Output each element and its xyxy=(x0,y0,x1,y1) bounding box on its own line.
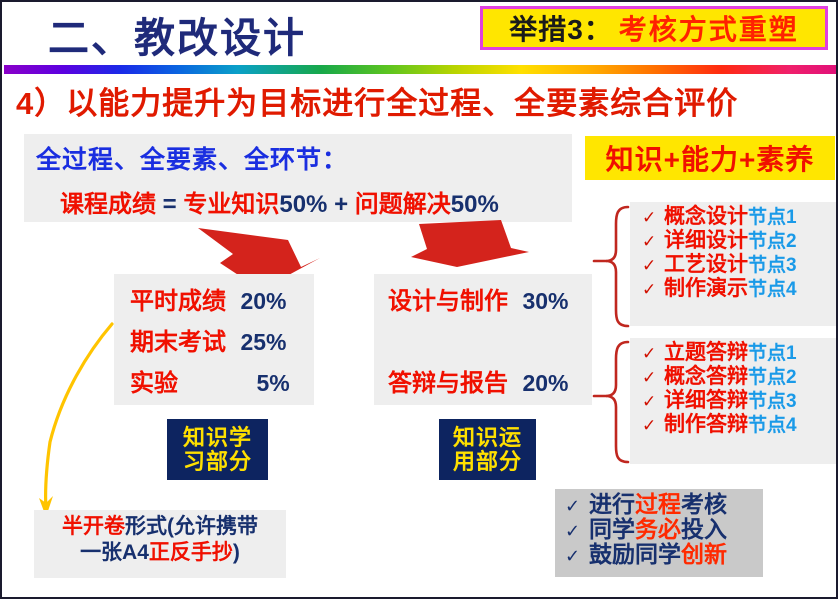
subtitle-heading: 4）以能力提升为目标进行全过程、全要素综合评价 xyxy=(16,78,738,123)
node-tag: 节点1 xyxy=(748,344,797,363)
score-value: 5% xyxy=(256,370,289,396)
node-tag: 节点3 xyxy=(748,392,797,411)
score-value: 30% xyxy=(522,288,568,314)
table-row: 实验 5% xyxy=(130,363,290,398)
table-row: 期末考试 25% xyxy=(130,322,287,357)
list-item: ✓ 工艺设计 节点3 xyxy=(642,254,828,275)
badge-line-1: 知识学 xyxy=(183,426,252,450)
goal-text-post: 考核 xyxy=(681,492,727,516)
node-tag: 节点2 xyxy=(748,368,797,387)
exam-note-text: 一张A4 xyxy=(80,541,149,564)
score-name: 设计与制作 xyxy=(388,288,508,315)
list-item: ✓ 制作演示 节点4 xyxy=(642,278,828,299)
badge-knowledge-learning: 知识学 习部分 xyxy=(167,419,268,480)
list-item: ✓ 概念答辩 节点2 xyxy=(642,366,828,387)
check-icon: ✓ xyxy=(565,522,589,541)
check-icon: ✓ xyxy=(565,497,589,516)
measure-badge-value: 考核方式重塑 xyxy=(619,8,799,48)
formula-term-b-value: 50% xyxy=(451,191,499,218)
list-item: ✓ 详细答辩 节点3 xyxy=(642,390,828,411)
goal-text-highlight: 务必 xyxy=(635,517,681,541)
node-tag: 节点4 xyxy=(748,280,797,299)
arrow-to-right-panel xyxy=(411,220,529,267)
formula-box: 全过程、全要素、全环节： 课程成绩 = 专业知识50% + 问题解决50% xyxy=(24,134,572,222)
node-name: 概念答辩 xyxy=(664,366,748,387)
score-name: 平时成绩 xyxy=(130,288,226,315)
teaching-goals-box: ✓ 进行过程考核 ✓ 同学务必投入 ✓ 鼓励同学创新 xyxy=(555,489,763,577)
brace-defense-nodes xyxy=(594,342,628,462)
slide-canvas: 二、教改设计 举措3： 考核方式重塑 4）以能力提升为目标进行全过程、全要素综合… xyxy=(0,0,838,599)
score-value: 20% xyxy=(522,370,568,396)
list-item: ✓ 立题答辩 节点1 xyxy=(642,342,828,363)
node-tag: 节点2 xyxy=(748,232,797,251)
goal-text-pre: 同学 xyxy=(589,517,635,541)
node-tag: 节点3 xyxy=(748,256,797,275)
score-value: 20% xyxy=(240,288,286,314)
badge-knowledge-applying: 知识运 用部分 xyxy=(439,419,536,480)
score-value: 25% xyxy=(240,329,286,355)
measure-badge-label: 举措3： xyxy=(509,8,613,48)
list-item: ✓ 详细设计 节点2 xyxy=(642,230,828,251)
score-name: 实验 xyxy=(130,370,178,397)
check-icon: ✓ xyxy=(642,209,664,226)
curve-arrow-to-exam-note xyxy=(39,324,112,517)
badge-line-2: 用部分 xyxy=(453,450,522,474)
rainbow-divider xyxy=(4,65,838,74)
formula-equals: = xyxy=(156,191,183,218)
node-name: 立题答辩 xyxy=(664,342,748,363)
list-item: ✓ 鼓励同学创新 xyxy=(565,542,757,566)
table-row: 答辩与报告 20% xyxy=(388,363,569,398)
node-name: 概念设计 xyxy=(664,206,748,227)
goal-text-pre: 进行 xyxy=(589,492,635,516)
formula-course-score: 课程成绩 xyxy=(60,191,156,218)
node-name: 制作答辩 xyxy=(664,414,748,435)
check-icon: ✓ xyxy=(565,547,589,566)
brace-design-nodes xyxy=(594,207,628,326)
knowledge-ability-literacy-tag: 知识+能力+素养 xyxy=(585,136,835,180)
check-icon: ✓ xyxy=(642,369,664,386)
exam-note-tail: ) xyxy=(233,541,240,564)
goal-text-post: 投入 xyxy=(681,517,727,541)
formula-heading: 全过程、全要素、全环节： xyxy=(36,140,562,176)
node-tag: 节点4 xyxy=(748,416,797,435)
goal-text-highlight: 过程 xyxy=(635,492,681,516)
check-icon: ✓ xyxy=(642,345,664,362)
defense-nodes-list: ✓ 立题答辩 节点1 ✓ 概念答辩 节点2 ✓ 详细答辩 节点3 ✓ 制作答辩 … xyxy=(630,338,836,464)
check-icon: ✓ xyxy=(642,257,664,274)
learning-score-panel: 平时成绩 20% 期末考试 25% 实验 5% xyxy=(114,274,314,405)
exam-note-highlight: 半开卷 xyxy=(62,515,125,538)
table-row: 设计与制作 30% xyxy=(388,281,569,316)
score-row: 平时成绩 20% xyxy=(130,281,287,316)
applying-score-panel: 设计与制作 30% 答辩与报告 20% xyxy=(374,274,592,405)
badge-line-1: 知识运 xyxy=(453,426,522,450)
check-icon: ✓ xyxy=(642,281,664,298)
check-icon: ✓ xyxy=(642,393,664,410)
slide-header: 二、教改设计 举措3： 考核方式重塑 xyxy=(2,2,836,62)
score-name: 答辩与报告 xyxy=(388,370,508,397)
goal-text-highlight: 创新 xyxy=(681,542,727,566)
node-name: 详细答辩 xyxy=(664,390,748,411)
exam-note-line-2: 一张A4正反手抄) xyxy=(40,540,280,566)
exam-note-text: 形式(允许携带 xyxy=(125,515,258,538)
formula-term-b-name: 问题解决 xyxy=(355,191,451,218)
formula-expression: 课程成绩 = 专业知识50% + 问题解决50% xyxy=(60,184,562,219)
formula-term-a-value: 50% xyxy=(279,191,327,218)
node-name: 详细设计 xyxy=(664,230,748,251)
badge-line-2: 习部分 xyxy=(183,450,252,474)
formula-plus: + xyxy=(327,191,354,218)
knowledge-tag-label: 知识+能力+素养 xyxy=(606,138,815,178)
design-nodes-list: ✓ 概念设计 节点1 ✓ 详细设计 节点2 ✓ 工艺设计 节点3 ✓ 制作演示 … xyxy=(630,202,836,326)
node-name: 工艺设计 xyxy=(664,254,748,275)
node-tag: 节点1 xyxy=(748,208,797,227)
formula-term-a-name: 专业知识 xyxy=(183,191,279,218)
score-name: 期末考试 xyxy=(130,329,226,356)
check-icon: ✓ xyxy=(642,233,664,250)
list-item: ✓ 概念设计 节点1 xyxy=(642,206,828,227)
page-title: 二、教改设计 xyxy=(48,4,306,64)
measure-badge: 举措3： 考核方式重塑 xyxy=(480,6,828,50)
exam-note-highlight: 正反手抄 xyxy=(149,541,233,564)
exam-note-line-1: 半开卷形式(允许携带 xyxy=(40,514,280,540)
check-icon: ✓ xyxy=(642,417,664,434)
exam-format-note: 半开卷形式(允许携带 一张A4正反手抄) xyxy=(34,510,286,578)
list-item: ✓ 进行过程考核 xyxy=(565,492,757,516)
list-item: ✓ 制作答辩 节点4 xyxy=(642,414,828,435)
goal-text-pre: 鼓励同学 xyxy=(589,542,681,566)
list-item: ✓ 同学务必投入 xyxy=(565,517,757,541)
node-name: 制作演示 xyxy=(664,278,748,299)
